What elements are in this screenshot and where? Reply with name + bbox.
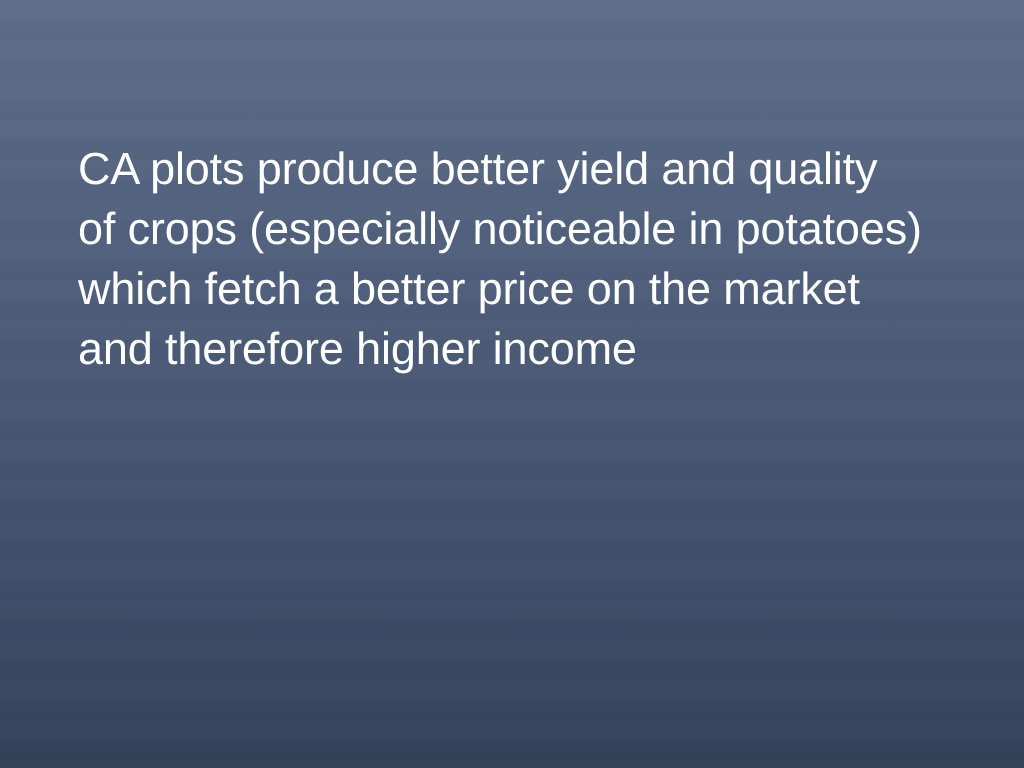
body-line-4: and therefore higher income bbox=[78, 319, 968, 379]
presentation-slide: CA plots produce better yield and qualit… bbox=[0, 0, 1024, 768]
body-line-2: of crops (especially noticeable in potat… bbox=[78, 199, 968, 259]
body-line-1: CA plots produce better yield and qualit… bbox=[78, 139, 968, 199]
body-line-3: which fetch a better price on the market bbox=[78, 259, 968, 319]
slide-body-text: CA plots produce better yield and qualit… bbox=[78, 139, 968, 379]
